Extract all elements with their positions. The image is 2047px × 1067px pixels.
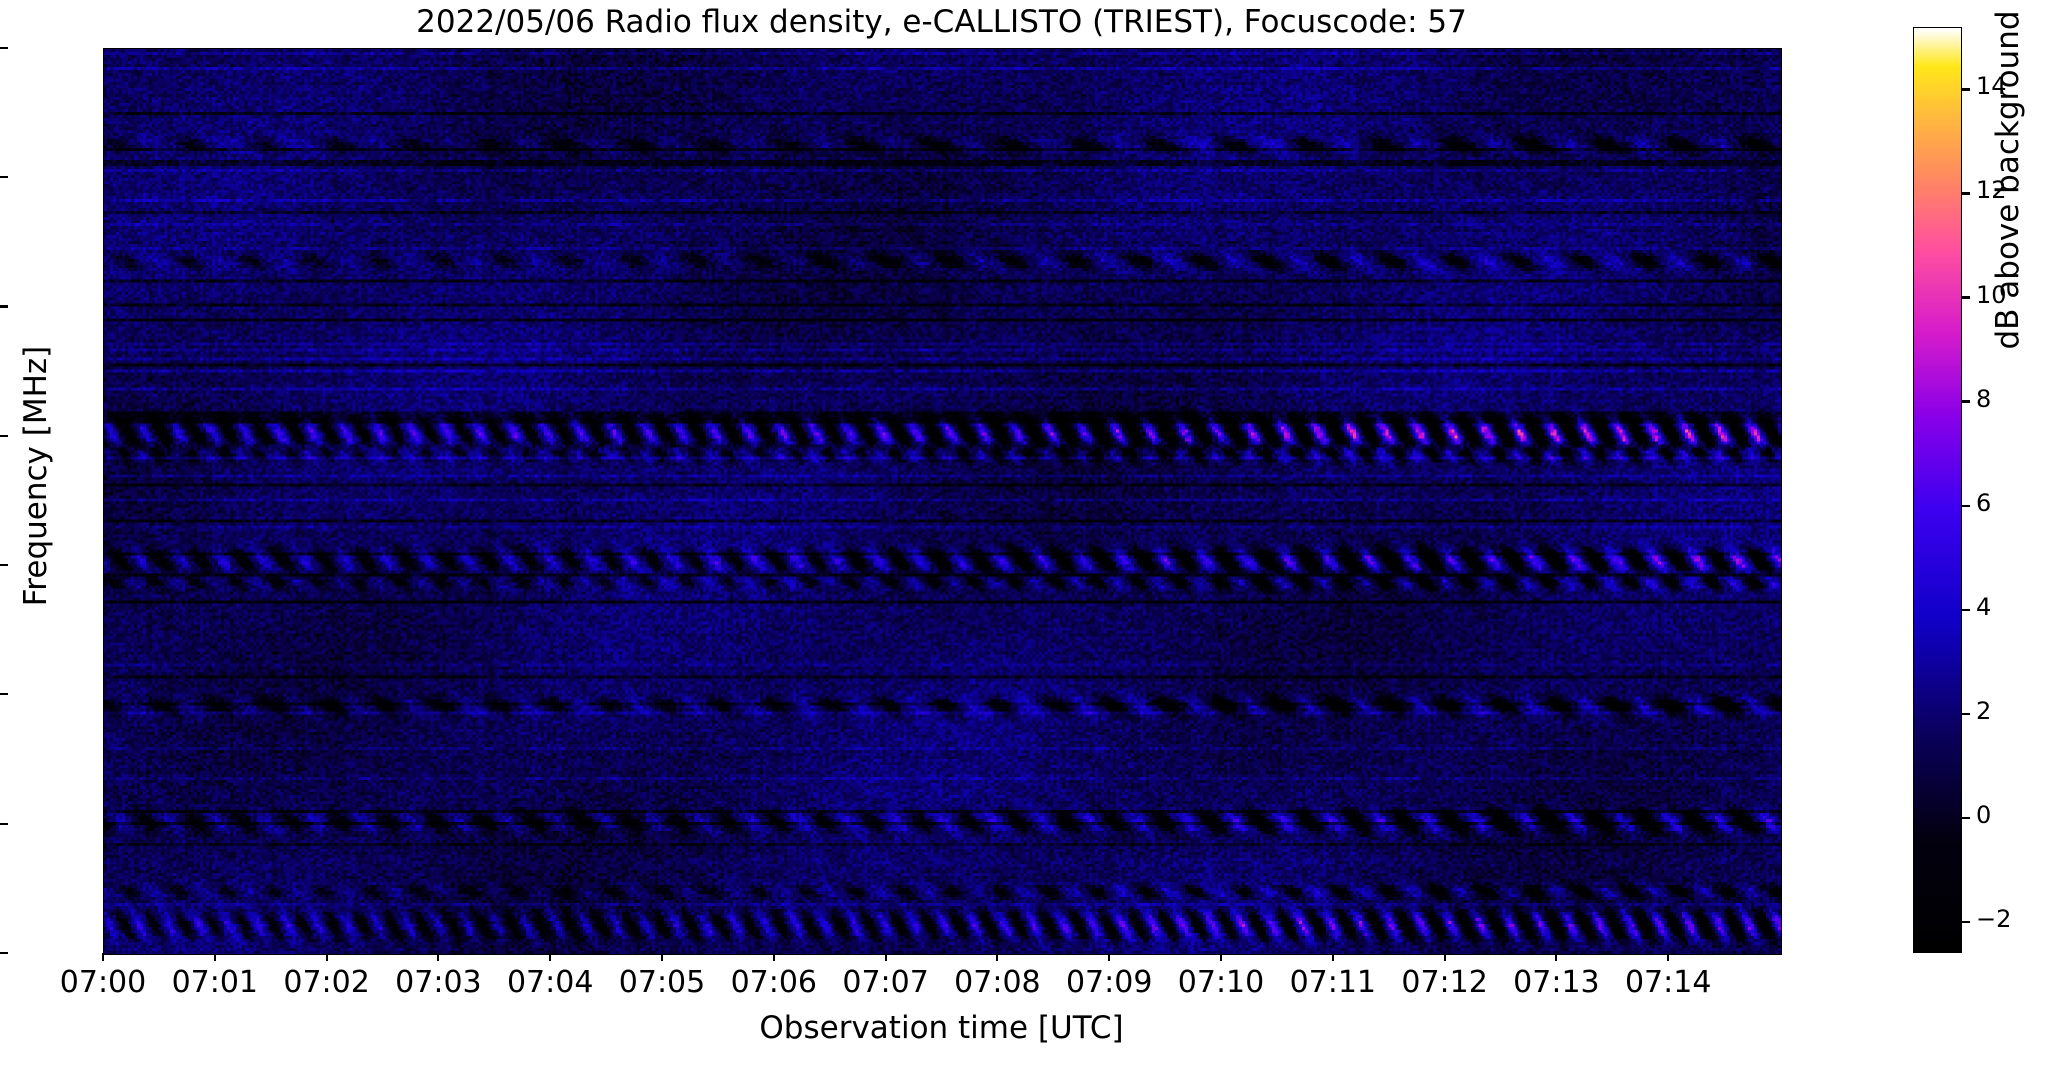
colorbar-gradient[interactable] [1913,27,1962,953]
x-tick-label: 07:11 [1290,965,1376,1000]
colorbar-tick-mark [1962,400,1970,402]
x-tick-label: 07:00 [60,965,146,1000]
colorbar-tick-mark [1962,921,1970,923]
x-tick-label: 07:01 [172,965,258,1000]
colorbar-tick-label: 4 [1976,593,1991,621]
colorbar-tick-label: 0 [1976,801,1991,829]
colorbar[interactable]: 14121086420−2 [1913,27,1962,953]
x-tick-label: 07:14 [1625,965,1711,1000]
colorbar-tick-mark [1962,192,1970,194]
colorbar-tick-label: 2 [1976,697,1991,725]
colorbar-tick-mark [1962,88,1970,90]
x-tick-mark [996,953,998,961]
x-tick-mark [1220,953,1222,961]
x-tick-mark [102,953,104,961]
x-tick-label: 07:04 [507,965,593,1000]
colorbar-tick-mark [1962,817,1970,819]
x-tick-mark [1667,953,1669,961]
x-tick-label: 07:06 [731,965,817,1000]
colorbar-tick-mark [1962,505,1970,507]
colorbar-tick-label: 6 [1976,489,1991,517]
x-tick-mark [885,953,887,961]
colorbar-tick-mark [1962,609,1970,611]
x-tick-mark [326,953,328,961]
x-tick-label: 07:02 [283,965,369,1000]
x-tick-label: 07:13 [1513,965,1599,1000]
x-tick-label: 07:10 [1178,965,1264,1000]
x-tick-mark [437,953,439,961]
colorbar-tick-label: −2 [1976,905,2011,933]
x-tick-mark [1444,953,1446,961]
colorbar-label: dB above background [1990,0,2026,490]
x-tick-label: 07:08 [954,965,1040,1000]
x-tick-mark [549,953,551,961]
x-tick-mark [661,953,663,961]
x-tick-mark [1555,953,1557,961]
x-tick-mark [1332,953,1334,961]
colorbar-tick-mark [1962,713,1970,715]
colorbar-tick-mark [1962,296,1970,298]
x-axis-label: Observation time [UTC] [103,1010,1780,1046]
x-tick-mark [773,953,775,961]
x-tick-mark [214,953,216,961]
x-tick-label: 07:05 [619,965,705,1000]
x-axis: 07:0007:0107:0207:0307:0407:0507:0607:07… [0,0,2047,1067]
x-tick-label: 07:12 [1401,965,1487,1000]
x-tick-label: 07:07 [842,965,928,1000]
colorbar-tick-label: 8 [1976,385,1991,413]
x-tick-label: 07:03 [395,965,481,1000]
x-tick-label: 07:09 [1066,965,1152,1000]
x-tick-mark [1108,953,1110,961]
spectrogram-figure: 2022/05/06 Radio flux density, e-CALLIST… [0,0,2047,1067]
